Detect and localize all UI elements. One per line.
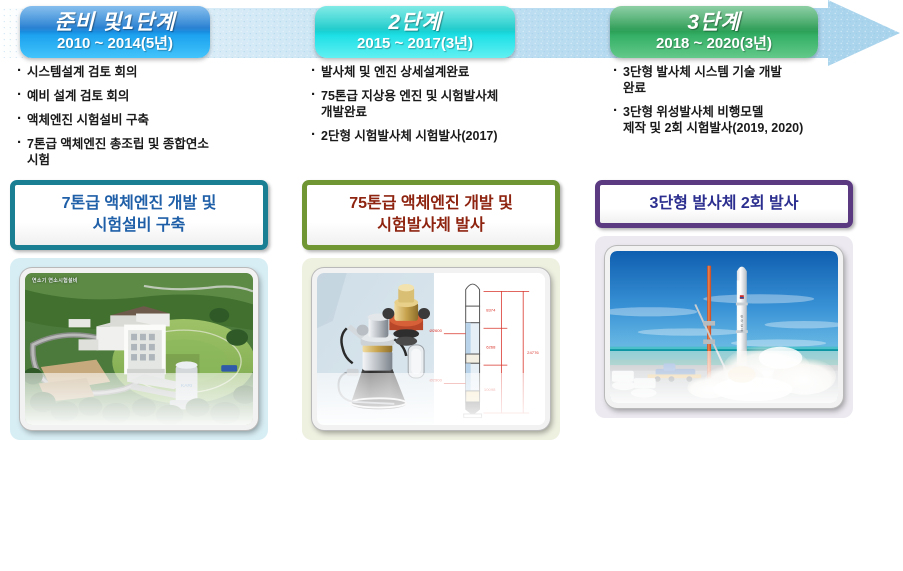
phase-1-range: 2010 ~ 2014(5년) — [20, 35, 210, 53]
phase-3-title: 3단계 — [610, 11, 818, 34]
card-3-panel: 한 국 항 공 — [595, 236, 853, 418]
phase-1-title: 준비 및1단계 — [20, 11, 210, 34]
launch-pad-liftoff-render: 한 국 항 공 — [610, 251, 838, 403]
list-item: 3단형 발사체 시스템 기술 개발 완료 — [612, 64, 900, 96]
card-2-photo-frame: 8374 6268 10098 24776 Ø2600 Ø2900 — [312, 268, 550, 430]
phase-pill-2[interactable]: 2단계 2015 ~ 2017(3년) — [315, 6, 515, 58]
phase-1-bullet-list: 시스템설계 검토 회의 예비 설계 검토 회의 액체엔진 시험설비 구축 7톤급… — [16, 64, 291, 176]
card-1-panel: KARI 연소기 연소시험설비 — [10, 258, 268, 440]
milestone-card-3: 3단형 발사체 2회 발사 — [595, 180, 853, 418]
svg-text:국: 국 — [740, 319, 743, 323]
phase-3-range: 2018 ~ 2020(3년) — [610, 35, 818, 53]
engine-test-facility-aerial-render: KARI — [25, 273, 253, 425]
card-2-panel: 8374 6268 10098 24776 Ø2600 Ø2900 — [302, 258, 560, 440]
svg-text:공: 공 — [740, 328, 743, 332]
svg-text:10098: 10098 — [484, 387, 496, 392]
svg-text:Ø2900: Ø2900 — [429, 378, 442, 383]
card-2-title: 75톤급 액체엔진 개발 및 시험발사체 발사 — [302, 180, 560, 250]
card-1-photo-frame: KARI 연소기 연소시험설비 — [20, 268, 258, 430]
phase-2-range: 2015 ~ 2017(3년) — [315, 35, 515, 53]
card-1-photo-caption: 연소기 연소시험설비 — [32, 277, 78, 284]
svg-text:항: 항 — [740, 323, 743, 328]
milestone-card-2: 75톤급 액체엔진 개발 및 시험발사체 발사 — [302, 180, 560, 440]
phase-pill-1[interactable]: 준비 및1단계 2010 ~ 2014(5년) — [20, 6, 210, 58]
svg-text:6268: 6268 — [486, 345, 496, 350]
phase-pill-3[interactable]: 3단계 2018 ~ 2020(3년) — [610, 6, 818, 58]
roadmap-arrow-banner: 준비 및1단계 2010 ~ 2014(5년) 2단계 2015 ~ 2017(… — [0, 0, 903, 70]
list-item: 75톤급 지상용 엔진 및 시험발사체 개발완료 — [310, 88, 585, 120]
card-3-photo-frame: 한 국 항 공 — [605, 246, 843, 408]
list-item: 7톤급 액체엔진 총조립 및 종합연소 시험 — [16, 136, 291, 168]
list-item: 예비 설계 검토 회의 — [16, 88, 291, 104]
phase-2-bullet-list: 발사체 및 엔진 상세설계완료 75톤급 지상용 엔진 및 시험발사체 개발완료… — [310, 64, 585, 152]
card-1-title: 7톤급 액체엔진 개발 및 시험설비 구축 — [10, 180, 268, 250]
list-item: 3단형 위성발사체 비행모델 제작 및 2회 시험발사(2019, 2020) — [612, 104, 900, 136]
svg-text:24776: 24776 — [527, 350, 539, 355]
milestone-card-1: 7톤급 액체엔진 개발 및 시험설비 구축 — [10, 180, 268, 440]
svg-text:KARI: KARI — [181, 383, 193, 389]
svg-text:Ø2600: Ø2600 — [429, 328, 442, 333]
list-item: 발사체 및 엔진 상세설계완료 — [310, 64, 585, 80]
phase-2-title: 2단계 — [315, 11, 515, 34]
list-item: 시스템설계 검토 회의 — [16, 64, 291, 80]
rocket-engine-and-vehicle-drawing: 8374 6268 10098 24776 Ø2600 Ø2900 — [317, 273, 545, 425]
phase-3-bullet-list: 3단형 발사체 시스템 기술 개발 완료 3단형 위성발사체 비행모델 제작 및… — [612, 64, 900, 144]
card-3-title: 3단형 발사체 2회 발사 — [595, 180, 853, 228]
list-item: 액체엔진 시험설비 구축 — [16, 112, 291, 128]
list-item: 2단형 시험발사체 시험발사(2017) — [310, 128, 585, 144]
svg-text:한: 한 — [740, 313, 743, 318]
svg-text:8374: 8374 — [486, 308, 496, 313]
